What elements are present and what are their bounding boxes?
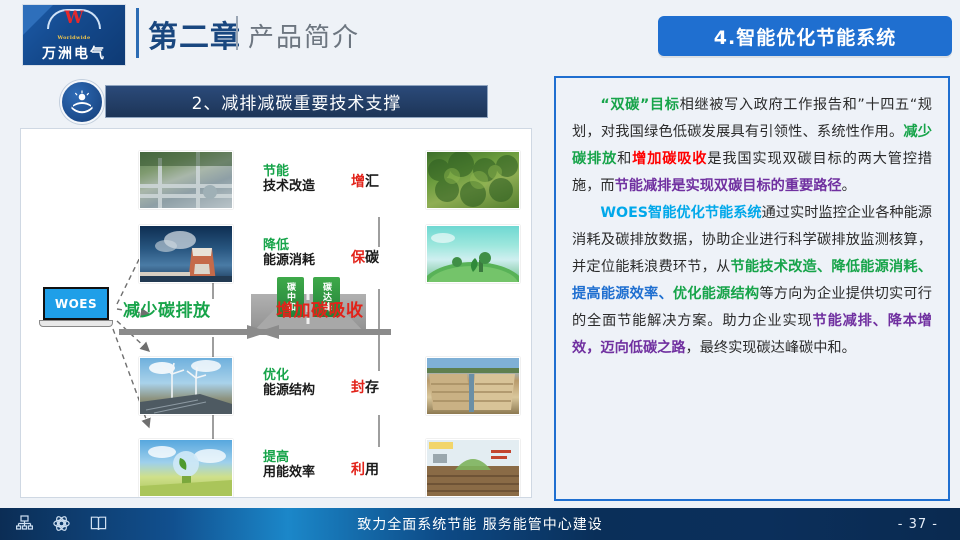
- chapter-title: 第二章: [148, 12, 241, 56]
- thumb-forest: [426, 151, 520, 209]
- p2-seg5: 提高能源效率、: [572, 286, 673, 302]
- thumb-pipes: [139, 151, 233, 209]
- page-number: - 37 -: [898, 508, 938, 540]
- page-subtitle: 产品简介: [248, 17, 360, 54]
- arrow-increase-absorption: [257, 325, 391, 338]
- p1-seg1: “双碳”目标: [600, 97, 679, 113]
- thumb-cooling-tower: [139, 225, 233, 283]
- woes-node[interactable]: WOES: [39, 287, 113, 333]
- hand-energy-icon: [60, 80, 104, 124]
- section-badge[interactable]: 4.智能优化节能系统: [658, 16, 952, 56]
- label-utilization: 利用: [351, 459, 379, 479]
- label-energy-retrofit-green: 节能: [263, 165, 315, 180]
- label-improve-efficiency: 提高 用能效率: [263, 451, 315, 481]
- logo-letter: W: [47, 9, 101, 28]
- arrow-reduce-emission: [119, 325, 269, 338]
- logo-w-mark: W: [47, 8, 101, 34]
- thumb-bulb-eco: [139, 439, 233, 497]
- thumb-geology-storage: [426, 357, 520, 415]
- label-preserve-carbon: 保碳: [351, 247, 379, 267]
- panel-paragraph-2: WOES智能优化节能系统通过实时监控企业各种能源消耗及碳排放数据，协助企业进行科…: [572, 200, 932, 362]
- woes-base: [39, 320, 113, 327]
- section-banner-label: 2、减排减碳重要技术支撑: [192, 89, 402, 114]
- woes-label: WOES: [55, 297, 97, 311]
- woes-screen: WOES: [43, 287, 109, 320]
- label-optimize-structure: 优化 能源结构: [263, 369, 315, 399]
- label-sequestration: 封存: [351, 377, 379, 397]
- p2-seg6: 优化能源结构: [673, 286, 759, 302]
- label-optimize-structure-black: 能源结构: [263, 384, 315, 399]
- p1-seg7: 节能减排是实现双碳目标的重要路径: [615, 178, 842, 194]
- label-increase-sink-red: 增: [351, 174, 365, 190]
- label-optimize-structure-green: 优化: [263, 369, 315, 384]
- p2-seg1: WOES智能优化节能系统: [600, 205, 761, 221]
- label-increase-sink-black: 汇: [365, 174, 379, 190]
- label-utilization-black: 用: [365, 462, 379, 478]
- label-sequestration-black: 存: [365, 380, 379, 396]
- footer-slogan: 致力全面系统节能 服务能管中心建设: [0, 508, 960, 540]
- section-badge-label: 4.智能优化节能系统: [714, 23, 896, 50]
- label-energy-retrofit: 节能 技术改造: [263, 165, 315, 195]
- label-reduce-consumption-black: 能源消耗: [263, 254, 315, 269]
- label-increase-sink: 增汇: [351, 171, 379, 191]
- logo-chinese-text: 万洲电气: [42, 43, 106, 63]
- p2-seg9: ，最终实现碳达峰碳中和。: [686, 340, 856, 356]
- title-separator: [236, 16, 238, 50]
- logo-english-text: Worldwide: [57, 35, 90, 41]
- label-preserve-carbon-black: 碳: [365, 250, 379, 266]
- footer-bar: 致力全面系统节能 服务能管中心建设 - 37 -: [0, 508, 960, 540]
- label-energy-retrofit-black: 技术改造: [263, 180, 315, 195]
- p1-seg8: 。: [842, 178, 856, 194]
- p2-seg4: 降低能源消耗、: [831, 259, 932, 275]
- p1-seg5: 增加碳吸收: [632, 151, 707, 167]
- label-reduce-emission: 减少碳排放: [123, 296, 211, 321]
- label-improve-efficiency-black: 用能效率: [263, 466, 315, 481]
- thumb-green-earth: [426, 225, 520, 283]
- p2-seg3: 节能技术改造、: [730, 259, 831, 275]
- label-increase-absorption: 增加碳吸收: [276, 296, 364, 321]
- description-panel: “双碳”目标相继被写入政府工作报告和”十四五“规划，对我国绿色低碳发展具有引领性…: [554, 76, 950, 501]
- thumb-utilization: [426, 439, 520, 497]
- p1-seg4: 和: [617, 151, 632, 167]
- label-sequestration-red: 封: [351, 380, 365, 396]
- label-improve-efficiency-green: 提高: [263, 451, 315, 466]
- label-reduce-consumption-green: 降低: [263, 239, 315, 254]
- thumb-wind-solar: [139, 357, 233, 415]
- carbon-strategy-diagram: 节能 技术改造 降低 能源消耗: [20, 128, 532, 498]
- label-utilization-red: 利: [351, 462, 365, 478]
- section-banner: 2、减排减碳重要技术支撑: [105, 85, 488, 118]
- label-preserve-carbon-red: 保: [351, 250, 365, 266]
- label-reduce-consumption: 降低 能源消耗: [263, 239, 315, 269]
- header-divider: [136, 8, 139, 58]
- company-logo: W Worldwide 万洲电气: [22, 4, 126, 66]
- panel-paragraph-1: “双碳”目标相继被写入政府工作报告和”十四五“规划，对我国绿色低碳发展具有引领性…: [572, 92, 932, 200]
